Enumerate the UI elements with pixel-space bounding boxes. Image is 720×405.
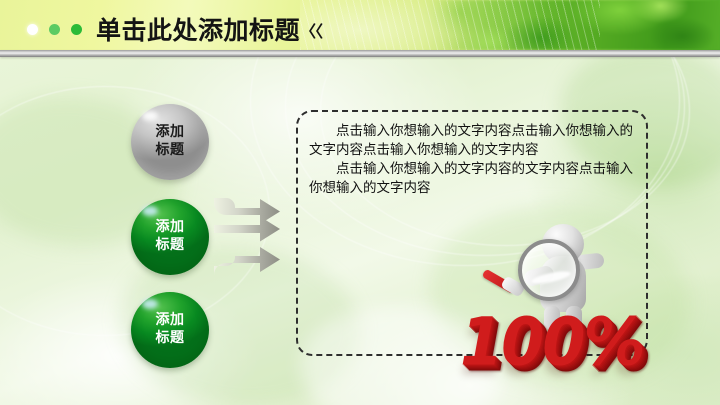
- header-dot-green-light-icon: [49, 24, 60, 35]
- page-title[interactable]: 单击此处添加标题〈〈: [96, 11, 322, 47]
- circle-button-2-label-line2: 标题: [156, 237, 185, 255]
- magnifier-lens-icon: [518, 239, 580, 301]
- content-paragraph-2: 点击输入你想输入的文字内容的文字内容点击输入你想输入的文字内容: [309, 160, 635, 198]
- header-dot-white-icon: [27, 24, 38, 35]
- circle-button-1-label-line1: 添加: [156, 124, 185, 142]
- header-dot-green-icon: [71, 24, 82, 35]
- circle-highlight-icon: [142, 206, 158, 216]
- circle-button-2[interactable]: 添加 标题: [131, 199, 209, 275]
- slide-canvas: 单击此处添加标题〈〈 添加 标题 添加 标题 添加 标题: [0, 0, 720, 405]
- title-chevron-icon: 〈〈: [300, 22, 322, 41]
- circle-button-1-label-line2: 标题: [156, 142, 185, 160]
- page-title-text: 单击此处添加标题: [96, 16, 300, 45]
- circle-button-3[interactable]: 添加 标题: [131, 292, 209, 368]
- circle-button-3-label-line2: 标题: [156, 330, 185, 348]
- circle-button-2-label-line1: 添加: [156, 219, 185, 237]
- circle-button-3-label-line1: 添加: [156, 312, 185, 330]
- content-paragraph-1: 点击输入你想输入的文字内容点击输入你想输入的文字内容点击输入你想输入的文字内容: [309, 122, 635, 160]
- percent-graphic: 100%: [460, 303, 644, 380]
- arrow-middle-icon: [214, 217, 280, 242]
- header-leaf-photo: [420, 0, 720, 50]
- header-dot-group: [27, 24, 82, 35]
- arrow-bottom-icon: [214, 247, 280, 276]
- circle-highlight-icon: [142, 299, 158, 309]
- content-text-block[interactable]: 点击输入你想输入的文字内容点击输入你想输入的文字内容点击输入你想输入的文字内容 …: [309, 122, 635, 198]
- slide-header: 单击此处添加标题〈〈: [0, 0, 720, 50]
- header-divider: [0, 50, 720, 57]
- circle-highlight-icon: [142, 111, 158, 121]
- circle-button-1[interactable]: 添加 标题: [131, 104, 209, 180]
- arrow-top-icon: [214, 188, 280, 224]
